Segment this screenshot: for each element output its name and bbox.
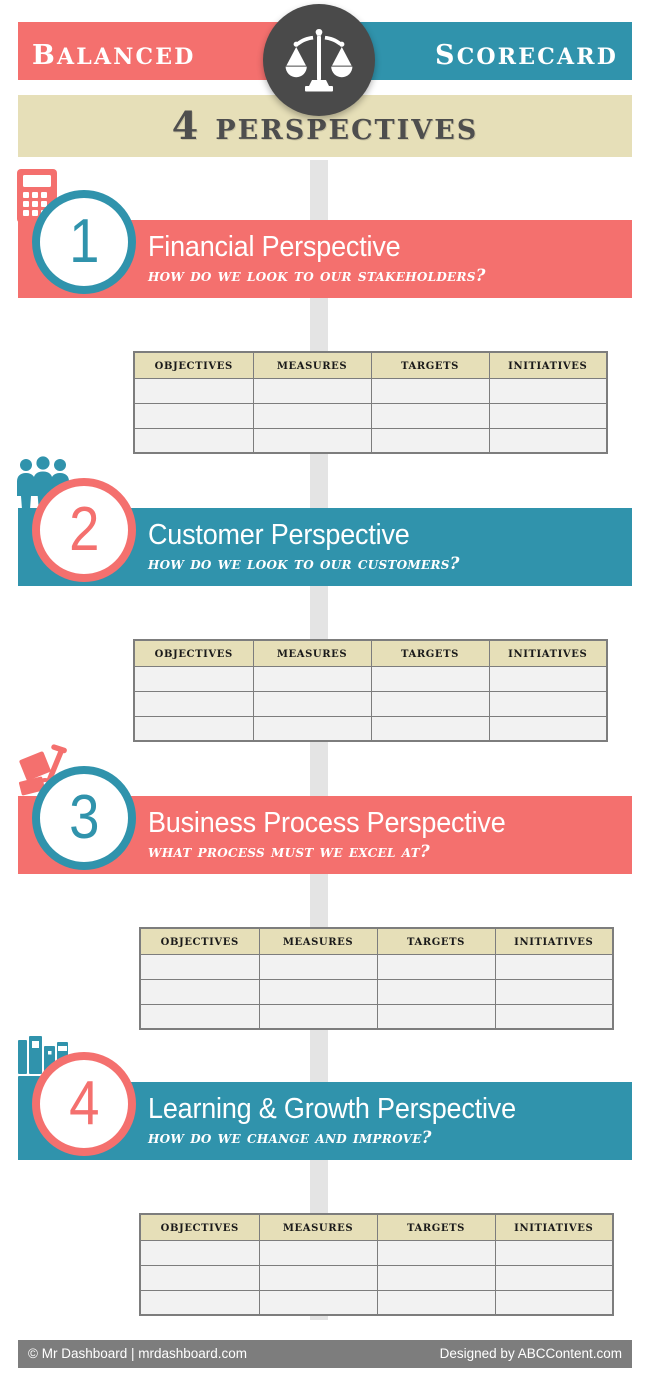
scales-of-justice-icon — [263, 4, 375, 116]
table-row[interactable] — [140, 1240, 613, 1265]
table-header-objectives: Objectives — [140, 928, 259, 954]
table-cell[interactable] — [371, 666, 489, 691]
table-cell[interactable] — [495, 1265, 613, 1290]
section-title-financial: Financial Perspective — [148, 232, 598, 262]
section-question-business-process: What process must we excel at? — [148, 841, 632, 862]
section-number-3: 3 — [69, 787, 99, 849]
table-cell[interactable] — [495, 1290, 613, 1315]
table-cell[interactable] — [253, 378, 371, 403]
table-cell[interactable] — [489, 403, 607, 428]
table-cell[interactable] — [134, 716, 253, 741]
table-cell[interactable] — [489, 428, 607, 453]
section-number-circle-4: 4 — [32, 1052, 136, 1156]
table-cell[interactable] — [377, 1290, 495, 1315]
section-question-customer: How do we look to our customers? — [148, 553, 632, 574]
table-header-targets: Targets — [371, 640, 489, 666]
table-cell[interactable] — [140, 979, 259, 1004]
table-cell[interactable] — [371, 691, 489, 716]
table-cell[interactable] — [489, 691, 607, 716]
table-row[interactable] — [134, 691, 607, 716]
table-cell[interactable] — [377, 1265, 495, 1290]
table-cell[interactable] — [495, 979, 613, 1004]
table-cell[interactable] — [377, 1240, 495, 1265]
table-cell[interactable] — [140, 954, 259, 979]
table-header-targets: Targets — [377, 1214, 495, 1240]
table-cell[interactable] — [140, 1290, 259, 1315]
table-cell[interactable] — [371, 403, 489, 428]
table-cell[interactable] — [134, 428, 253, 453]
section-number-1: 1 — [69, 211, 99, 273]
table-cell[interactable] — [140, 1265, 259, 1290]
table-header-objectives: Objectives — [134, 352, 253, 378]
table-customer[interactable]: Objectives Measures Targets Initiatives — [133, 639, 608, 742]
table-row[interactable] — [140, 1290, 613, 1315]
table-cell[interactable] — [371, 428, 489, 453]
section-number-2: 2 — [69, 499, 99, 561]
table-row[interactable] — [134, 378, 607, 403]
table-cell[interactable] — [134, 378, 253, 403]
table-row[interactable] — [134, 403, 607, 428]
table-header-objectives: Objectives — [140, 1214, 259, 1240]
table-header-objectives: Objectives — [134, 640, 253, 666]
table-financial[interactable]: Objectives Measures Targets Initiatives — [133, 351, 608, 454]
table-cell[interactable] — [253, 666, 371, 691]
table-header-targets: Targets — [377, 928, 495, 954]
section-number-circle-3: 3 — [32, 766, 136, 870]
table-header-initiatives: Initiatives — [489, 352, 607, 378]
table-header-initiatives: Initiatives — [489, 640, 607, 666]
table-header-targets: Targets — [371, 352, 489, 378]
table-cell[interactable] — [134, 403, 253, 428]
table-cell[interactable] — [259, 979, 377, 1004]
table-cell[interactable] — [253, 428, 371, 453]
table-header-row: Objectives Measures Targets Initiatives — [140, 1214, 613, 1240]
table-row[interactable] — [140, 979, 613, 1004]
table-cell[interactable] — [259, 1265, 377, 1290]
table-cell[interactable] — [259, 1240, 377, 1265]
table-row[interactable] — [140, 954, 613, 979]
table-header-row: Objectives Measures Targets Initiatives — [140, 928, 613, 954]
table-cell[interactable] — [371, 378, 489, 403]
table-learning-growth[interactable]: Objectives Measures Targets Initiatives — [139, 1213, 614, 1316]
table-cell[interactable] — [489, 716, 607, 741]
header-word-balanced: Balanced — [32, 32, 196, 70]
table-header-measures: Measures — [253, 352, 371, 378]
table-cell[interactable] — [495, 1240, 613, 1265]
table-row[interactable] — [134, 716, 607, 741]
table-cell[interactable] — [495, 1004, 613, 1029]
footer-credit: Designed by ABCContent.com — [440, 1347, 622, 1361]
section-number-circle-2: 2 — [32, 478, 136, 582]
table-cell[interactable] — [140, 1004, 259, 1029]
header-word-scorecard: Scorecard — [435, 32, 618, 70]
table-cell[interactable] — [253, 716, 371, 741]
table-cell[interactable] — [377, 1004, 495, 1029]
table-row[interactable] — [140, 1004, 613, 1029]
table-business-process[interactable]: Objectives Measures Targets Initiatives — [139, 927, 614, 1030]
table-header-initiatives: Initiatives — [495, 928, 613, 954]
table-cell[interactable] — [259, 954, 377, 979]
section-question-financial: How do we look to our stakeholders? — [148, 265, 632, 286]
table-header-measures: Measures — [259, 928, 377, 954]
table-cell[interactable] — [371, 716, 489, 741]
table-cell[interactable] — [253, 691, 371, 716]
table-row[interactable] — [140, 1265, 613, 1290]
section-question-learning-growth: How do we change and improve? — [148, 1127, 632, 1148]
table-header-row: Objectives Measures Targets Initiatives — [134, 640, 607, 666]
table-cell[interactable] — [259, 1290, 377, 1315]
table-cell[interactable] — [134, 666, 253, 691]
header: Balanced Scorecard — [0, 0, 650, 160]
table-cell[interactable] — [495, 954, 613, 979]
table-cell[interactable] — [253, 403, 371, 428]
table-row[interactable] — [134, 428, 607, 453]
table-cell[interactable] — [134, 691, 253, 716]
section-title-business-process: Business Process Perspective — [148, 808, 598, 838]
table-header-row: Objectives Measures Targets Initiatives — [134, 352, 607, 378]
section-title-customer: Customer Perspective — [148, 520, 598, 550]
table-cell[interactable] — [140, 1240, 259, 1265]
section-number-circle-1: 1 — [32, 190, 136, 294]
table-cell[interactable] — [489, 666, 607, 691]
table-header-measures: Measures — [253, 640, 371, 666]
table-cell[interactable] — [377, 954, 495, 979]
table-header-measures: Measures — [259, 1214, 377, 1240]
table-cell[interactable] — [259, 1004, 377, 1029]
table-cell[interactable] — [377, 979, 495, 1004]
footer-copyright: © Mr Dashboard | mrdashboard.com — [28, 1347, 247, 1361]
footer: © Mr Dashboard | mrdashboard.com Designe… — [18, 1340, 632, 1368]
section-number-4: 4 — [69, 1073, 99, 1135]
section-title-learning-growth: Learning & Growth Perspective — [148, 1094, 598, 1124]
table-row[interactable] — [134, 666, 607, 691]
table-header-initiatives: Initiatives — [495, 1214, 613, 1240]
table-cell[interactable] — [489, 378, 607, 403]
